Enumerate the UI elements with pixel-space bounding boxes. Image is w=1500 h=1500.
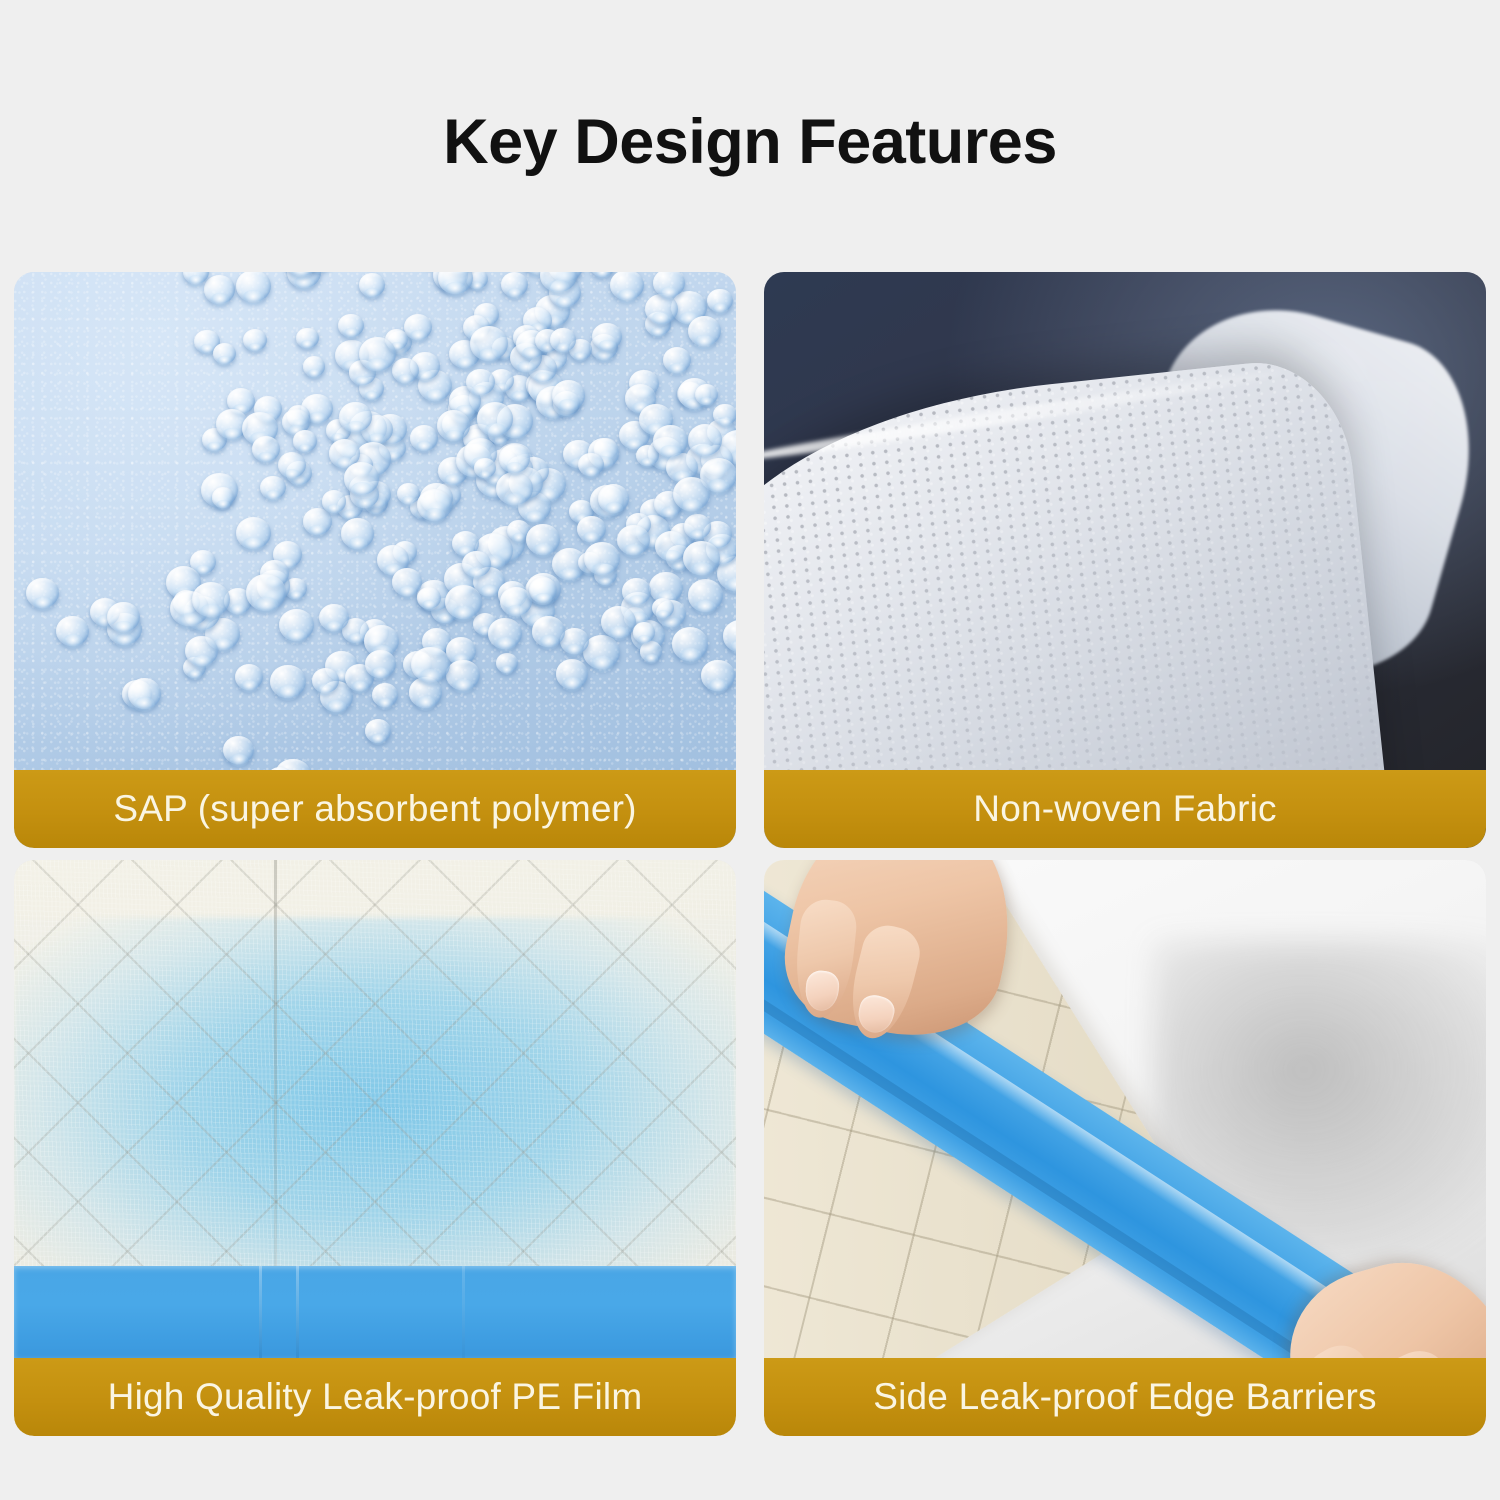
sap-bead [446,660,480,691]
sap-bead [341,518,375,549]
sap-bead [688,424,723,456]
sap-bead [688,579,724,612]
sap-bead [235,664,263,690]
sap-bead [673,477,710,511]
sap-bead [529,577,557,603]
sap-bead [672,627,709,661]
sap-bead [339,402,371,432]
sap-bead [319,604,349,632]
sap-bead [252,436,280,462]
caption-label-edgebarrier: Side Leak-proof Edge Barriers [873,1376,1377,1418]
caption-label-nonwoven: Non-woven Fabric [973,788,1276,830]
pe-film-wrinkle [296,1266,299,1358]
sap-bead [598,484,629,513]
pe-film-blue-strip [14,1266,736,1358]
sap-bead [466,369,495,396]
sap-bead [365,719,391,743]
sap-bead [462,551,491,578]
sap-bead [663,347,692,374]
sap-bead [590,272,615,277]
sap-bead [372,683,398,707]
sap-bead [653,425,688,457]
sap-bead [212,487,235,508]
sap-bead [552,380,585,410]
sap-bead [713,404,736,426]
sap-bead [213,343,237,365]
sap-bead [592,323,622,351]
caption-bar-pefilm: High Quality Leak-proof PE Film [14,1358,736,1436]
feature-card-pefilm[interactable]: High Quality Leak-proof PE Film [14,860,736,1436]
sap-bead [633,622,655,643]
pe-film-wrinkle [259,1266,262,1358]
sap-bead [236,272,271,302]
pad-fold-crease [274,860,277,1332]
sap-bead [404,314,432,340]
sap-bead [296,328,318,348]
sap-bead [192,582,230,617]
sap-bead [470,326,508,361]
sap-bead [496,472,533,506]
sap-bead [477,402,513,435]
sap-bead [344,462,380,495]
sap-bead [322,490,346,512]
sap-bead [526,524,560,555]
sap-bead [488,618,521,649]
sap-bead [707,289,733,313]
feature-card-sap[interactable]: SAP (super absorbent polymer) [14,272,736,848]
sap-bead [56,616,88,646]
sap-bead [411,647,449,682]
sap-bead [499,444,531,473]
feature-card-edgebarrier[interactable]: Side Leak-proof Edge Barriers [764,860,1486,1436]
sap-bead [260,476,286,500]
sap-beads-photo [14,272,736,848]
sap-bead [688,316,721,346]
sap-bead [683,541,721,576]
caption-label-sap: SAP (super absorbent polymer) [113,788,636,830]
sap-bead [128,678,161,709]
sap-bead [578,453,604,477]
sap-bead [601,606,636,638]
caption-bar-edgebarrier: Side Leak-proof Edge Barriers [764,1358,1486,1436]
sap-bead [684,514,711,538]
sap-bead [303,356,325,376]
sap-bead [338,314,363,337]
fingernail [854,991,897,1036]
sap-bead [392,358,419,383]
sap-bead [652,598,674,619]
sap-bead [204,275,235,304]
sap-bead [236,517,271,549]
sap-bead [279,609,314,641]
caption-bar-sap: SAP (super absorbent polymer) [14,770,736,848]
edge-barrier-photo [764,860,1486,1436]
sap-bead [26,578,59,608]
sap-bead [417,587,441,609]
fingernail [804,969,841,1012]
sap-bead [695,384,718,405]
pe-film-wrinkle [462,1266,465,1358]
sap-bead [501,272,528,297]
sap-bead [246,574,286,611]
sap-bead [417,489,452,521]
sap-bead [359,273,385,297]
pe-film-photo [14,860,736,1436]
finger [791,897,859,1020]
sap-bead [359,337,396,371]
sap-bead [556,659,588,689]
sap-bead-cluster [14,272,736,848]
sap-bead [270,665,306,698]
feature-grid: SAP (super absorbent polymer) Non-woven … [14,272,1486,1436]
sap-bead [185,636,217,666]
non-woven-fabric-photo [764,272,1486,848]
sap-bead [365,650,395,678]
sap-bead [550,328,576,352]
feature-card-nonwoven[interactable]: Non-woven Fabric [764,272,1486,848]
sap-bead [701,660,734,690]
sap-bead [223,736,254,765]
sap-bead [293,430,316,452]
sap-bead [577,516,606,543]
page-title: Key Design Features [0,106,1500,178]
sap-bead [617,525,650,555]
sap-bead [474,458,496,478]
sap-bead [723,620,736,651]
sap-bead [445,585,482,619]
sap-bead [410,425,438,450]
caption-bar-nonwoven: Non-woven Fabric [764,770,1486,848]
caption-label-pefilm: High Quality Leak-proof PE Film [108,1376,643,1418]
sap-bead [312,668,339,693]
sap-bead [610,272,643,300]
sap-bead [496,653,518,673]
sap-bead [243,329,267,351]
